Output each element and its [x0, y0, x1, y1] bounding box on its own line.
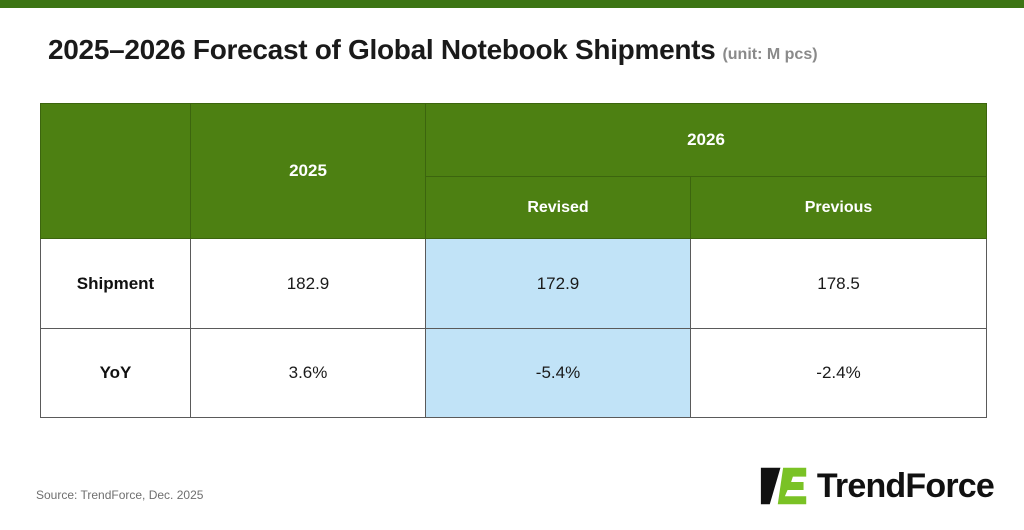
header-cell-2025: 2025 [191, 104, 426, 239]
row-label-yoy: YoY [41, 329, 191, 418]
table-row: YoY 3.6% -5.4% -2.4% [41, 329, 987, 418]
table-row: Shipment 182.9 172.9 178.5 [41, 239, 987, 329]
cell-shipment-2026-revised: 172.9 [426, 239, 691, 329]
source-note: Source: TrendForce, Dec. 2025 [36, 488, 203, 502]
table-header-row-year: 2025 2026 [41, 104, 987, 177]
header-cell-2026: 2026 [426, 104, 987, 177]
forecast-table: 2025 2026 Revised Previous Shipment 182.… [40, 103, 987, 418]
top-accent-bar [0, 0, 1024, 8]
trendforce-logo-text: TrendForce [817, 467, 994, 506]
cell-shipment-2026-previous: 178.5 [691, 239, 987, 329]
trendforce-logo: TrendForce [760, 466, 994, 506]
cell-yoy-2025: 3.6% [191, 329, 426, 418]
cell-yoy-2026-revised: -5.4% [426, 329, 691, 418]
table-corner-cell [41, 104, 191, 239]
cell-shipment-2025: 182.9 [191, 239, 426, 329]
row-label-shipment: Shipment [41, 239, 191, 329]
header-cell-previous: Previous [691, 177, 987, 239]
page-title: 2025–2026 Forecast of Global Notebook Sh… [48, 34, 994, 66]
title-main-text: 2025–2026 Forecast of Global Notebook Sh… [48, 34, 715, 66]
cell-yoy-2026-previous: -2.4% [691, 329, 987, 418]
title-unit-text: (unit: M pcs) [722, 46, 817, 64]
trendforce-logo-mark [760, 466, 808, 506]
forecast-table-container: TrendForce 2025 2026 Revised Previous Sh… [40, 103, 986, 417]
header-cell-revised: Revised [426, 177, 691, 239]
